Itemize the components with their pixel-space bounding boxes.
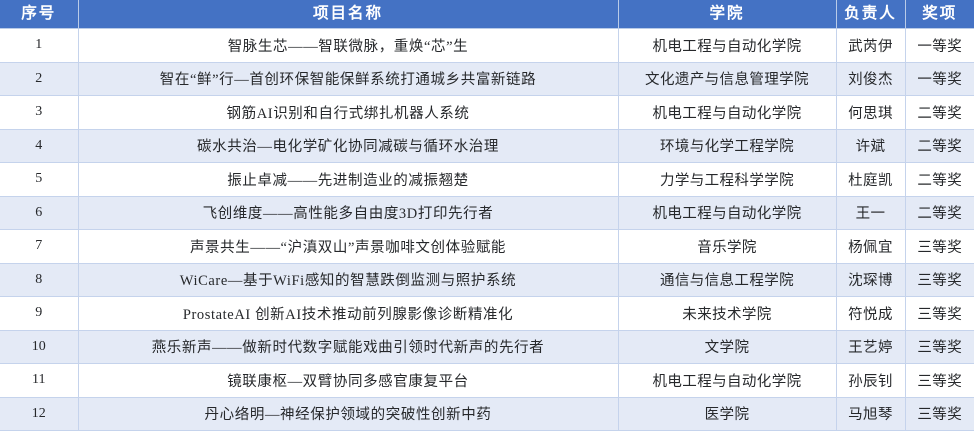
table-header: 序号 项目名称 学院 负责人 奖项: [0, 0, 974, 29]
cell-school: 医学院: [618, 397, 836, 431]
cell-school: 未来技术学院: [618, 297, 836, 331]
cell-award: 二等奖: [905, 163, 974, 197]
cell-index: 4: [0, 129, 78, 163]
table-row: 3钢筋AI识别和自行式绑扎机器人系统机电工程与自动化学院何思琪二等奖: [0, 96, 974, 130]
column-header-index: 序号: [0, 0, 78, 29]
cell-school: 机电工程与自动化学院: [618, 364, 836, 398]
cell-leader: 武芮伊: [836, 29, 905, 63]
header-row: 序号 项目名称 学院 负责人 奖项: [0, 0, 974, 29]
table-row: 10燕乐新声——做新时代数字赋能戏曲引领时代新声的先行者文学院王艺婷三等奖: [0, 330, 974, 364]
cell-name: 燕乐新声——做新时代数字赋能戏曲引领时代新声的先行者: [78, 330, 618, 364]
cell-school: 力学与工程科学学院: [618, 163, 836, 197]
cell-index: 2: [0, 62, 78, 96]
cell-school: 机电工程与自动化学院: [618, 196, 836, 230]
cell-index: 7: [0, 230, 78, 264]
cell-leader: 杨佩宜: [836, 230, 905, 264]
cell-index: 8: [0, 263, 78, 297]
cell-leader: 王一: [836, 196, 905, 230]
column-header-school: 学院: [618, 0, 836, 29]
table-row: 11镜联康枢—双臂协同多感官康复平台机电工程与自动化学院孙辰钊三等奖: [0, 364, 974, 398]
cell-index: 5: [0, 163, 78, 197]
cell-leader: 何思琪: [836, 96, 905, 130]
column-header-leader: 负责人: [836, 0, 905, 29]
column-header-name: 项目名称: [78, 0, 618, 29]
cell-award: 二等奖: [905, 196, 974, 230]
cell-leader: 马旭琴: [836, 397, 905, 431]
cell-name: 智在“鲜”行—首创环保智能保鲜系统打通城乡共富新链路: [78, 62, 618, 96]
table-row: 6飞创维度——高性能多自由度3D打印先行者机电工程与自动化学院王一二等奖: [0, 196, 974, 230]
cell-name: 碳水共治—电化学矿化协同减碳与循环水治理: [78, 129, 618, 163]
table-row: 8WiCare—基于WiFi感知的智慧跌倒监测与照护系统通信与信息工程学院沈琛博…: [0, 263, 974, 297]
cell-leader: 杜庭凯: [836, 163, 905, 197]
cell-index: 9: [0, 297, 78, 331]
cell-award: 一等奖: [905, 62, 974, 96]
cell-leader: 符悦成: [836, 297, 905, 331]
column-header-award: 奖项: [905, 0, 974, 29]
cell-award: 三等奖: [905, 297, 974, 331]
cell-award: 三等奖: [905, 263, 974, 297]
cell-leader: 沈琛博: [836, 263, 905, 297]
cell-award: 二等奖: [905, 96, 974, 130]
cell-award: 一等奖: [905, 29, 974, 63]
cell-award: 三等奖: [905, 230, 974, 264]
cell-index: 1: [0, 29, 78, 63]
cell-school: 通信与信息工程学院: [618, 263, 836, 297]
table-row: 4碳水共治—电化学矿化协同减碳与循环水治理环境与化学工程学院许斌二等奖: [0, 129, 974, 163]
cell-leader: 许斌: [836, 129, 905, 163]
cell-leader: 王艺婷: [836, 330, 905, 364]
cell-leader: 孙辰钊: [836, 364, 905, 398]
table-row: 9ProstateAI 创新AI技术推动前列腺影像诊断精准化未来技术学院符悦成三…: [0, 297, 974, 331]
cell-index: 12: [0, 397, 78, 431]
cell-school: 文化遗产与信息管理学院: [618, 62, 836, 96]
cell-school: 文学院: [618, 330, 836, 364]
table-body: 1智脉生芯——智联微脉，重焕“芯”生机电工程与自动化学院武芮伊一等奖2智在“鲜”…: [0, 29, 974, 431]
table-row: 7声景共生——“沪滇双山”声景咖啡文创体验赋能音乐学院杨佩宜三等奖: [0, 230, 974, 264]
cell-name: 丹心络明—神经保护领域的突破性创新中药: [78, 397, 618, 431]
cell-name: 钢筋AI识别和自行式绑扎机器人系统: [78, 96, 618, 130]
table-row: 12丹心络明—神经保护领域的突破性创新中药医学院马旭琴三等奖: [0, 397, 974, 431]
cell-index: 11: [0, 364, 78, 398]
cell-award: 三等奖: [905, 330, 974, 364]
cell-index: 3: [0, 96, 78, 130]
table-row: 1智脉生芯——智联微脉，重焕“芯”生机电工程与自动化学院武芮伊一等奖: [0, 29, 974, 63]
cell-name: 振止卓减——先进制造业的减振翘楚: [78, 163, 618, 197]
cell-leader: 刘俊杰: [836, 62, 905, 96]
table-row: 5振止卓减——先进制造业的减振翘楚力学与工程科学学院杜庭凯二等奖: [0, 163, 974, 197]
cell-school: 环境与化学工程学院: [618, 129, 836, 163]
cell-school: 音乐学院: [618, 230, 836, 264]
cell-award: 三等奖: [905, 397, 974, 431]
award-list-table: 序号 项目名称 学院 负责人 奖项 1智脉生芯——智联微脉，重焕“芯”生机电工程…: [0, 0, 974, 431]
cell-name: 声景共生——“沪滇双山”声景咖啡文创体验赋能: [78, 230, 618, 264]
cell-index: 10: [0, 330, 78, 364]
cell-name: 飞创维度——高性能多自由度3D打印先行者: [78, 196, 618, 230]
cell-school: 机电工程与自动化学院: [618, 29, 836, 63]
cell-name: WiCare—基于WiFi感知的智慧跌倒监测与照护系统: [78, 263, 618, 297]
cell-name: 智脉生芯——智联微脉，重焕“芯”生: [78, 29, 618, 63]
cell-name: ProstateAI 创新AI技术推动前列腺影像诊断精准化: [78, 297, 618, 331]
cell-award: 三等奖: [905, 364, 974, 398]
cell-name: 镜联康枢—双臂协同多感官康复平台: [78, 364, 618, 398]
cell-index: 6: [0, 196, 78, 230]
cell-award: 二等奖: [905, 129, 974, 163]
table-row: 2智在“鲜”行—首创环保智能保鲜系统打通城乡共富新链路文化遗产与信息管理学院刘俊…: [0, 62, 974, 96]
cell-school: 机电工程与自动化学院: [618, 96, 836, 130]
